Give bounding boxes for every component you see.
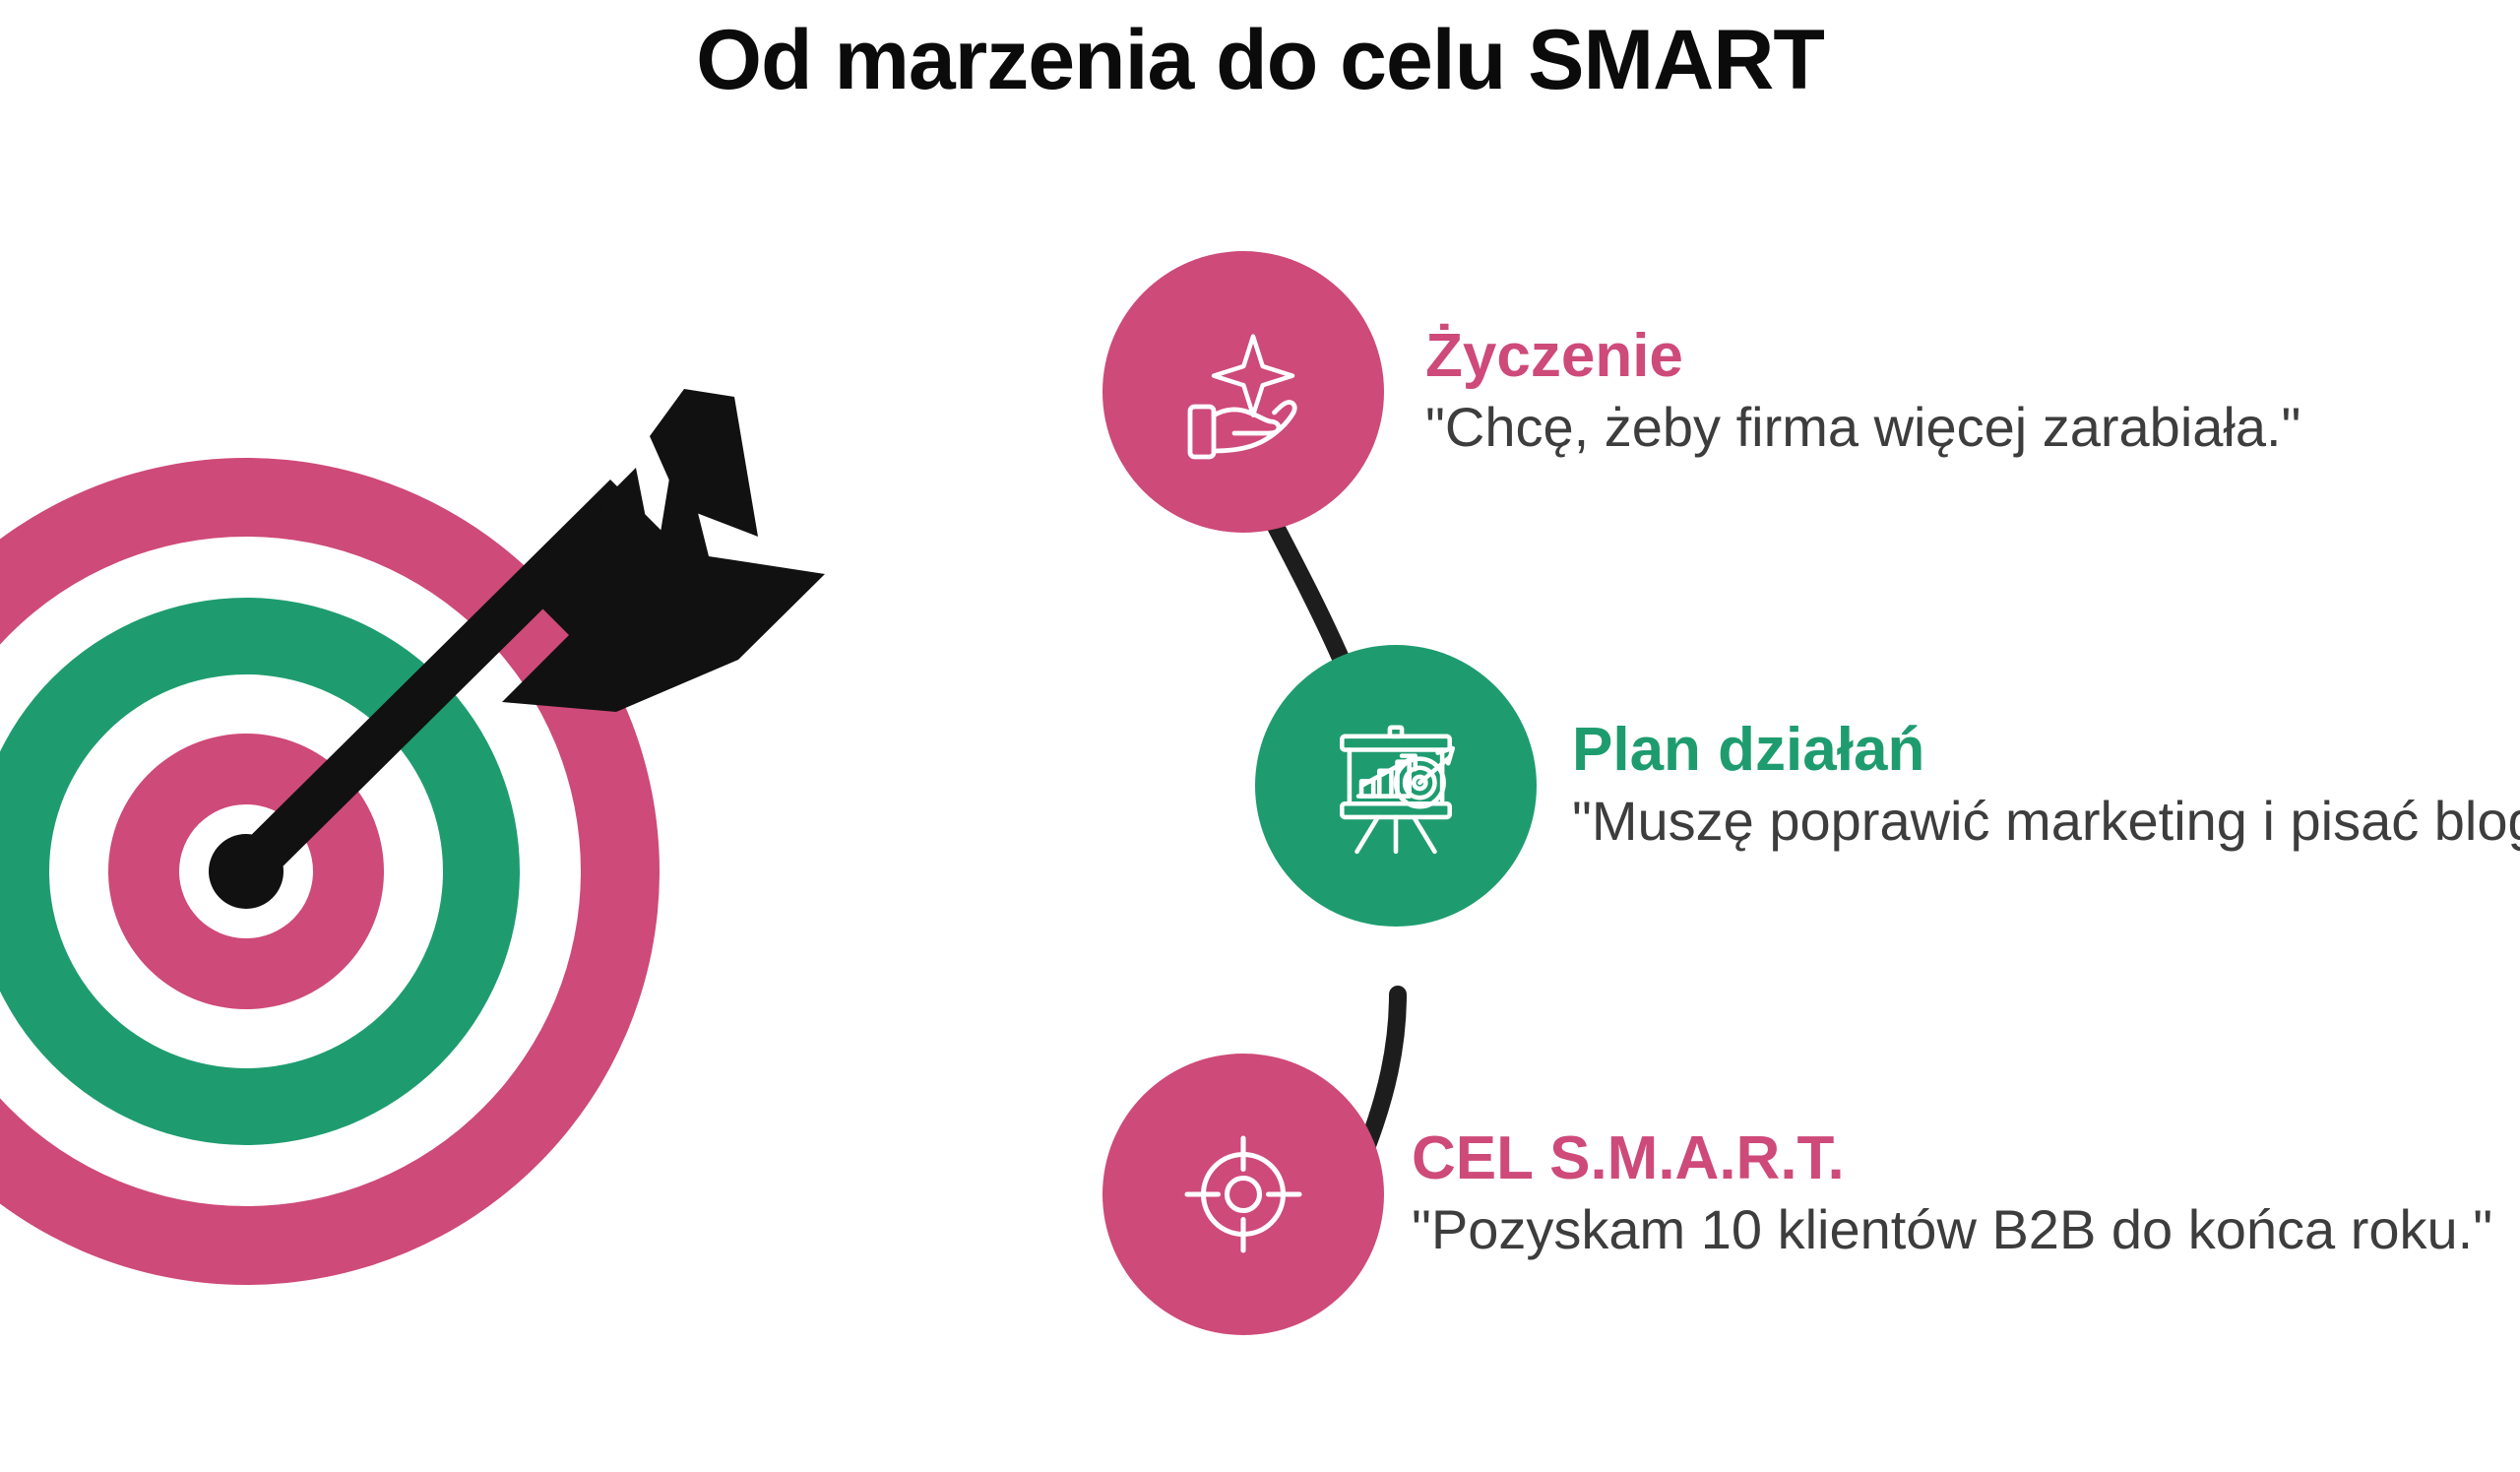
step-badge-plan-dzialan — [1255, 645, 1537, 927]
step-quote-zyczenie: "Chcę, żeby firma więcej zarabiała." — [1425, 396, 2300, 459]
step-heading-cel-smart: CEL S.M.A.R.T. — [1412, 1126, 2492, 1192]
step-badge-zyczenie — [1102, 251, 1384, 533]
flow-step-plan-dzialan[interactable]: Plan działań "Muszę poprawić marketing i… — [1255, 645, 2520, 927]
flow-step-zyczenie[interactable]: Życzenie "Chcę, żeby firma więcej zarabi… — [1102, 251, 2300, 533]
step-heading-zyczenie: Życzenie — [1425, 324, 2300, 390]
step-heading-plan-dzialan: Plan działań — [1572, 718, 2520, 784]
smart-flow: Życzenie "Chcę, żeby firma więcej zarabi… — [1102, 251, 2520, 1472]
flow-step-cel-smart[interactable]: CEL S.M.A.R.T. "Pozyskam 10 klientów B2B… — [1102, 1054, 2492, 1335]
step-quote-cel-smart: "Pozyskam 10 klientów B2B do końca roku.… — [1412, 1198, 2492, 1261]
dartboard-illustration — [0, 212, 984, 1324]
hand-with-sparkle-icon — [1169, 318, 1317, 466]
step-badge-cel-smart — [1102, 1054, 1384, 1335]
step-text-cel-smart: CEL S.M.A.R.T. "Pozyskam 10 klientów B2B… — [1412, 1126, 2492, 1261]
crosshair-target-icon — [1169, 1120, 1317, 1268]
step-quote-plan-dzialan: "Muszę poprawić marketing i pisać bloga.… — [1572, 790, 2520, 853]
step-text-plan-dzialan: Plan działań "Muszę poprawić marketing i… — [1572, 718, 2520, 853]
step-text-zyczenie: Życzenie "Chcę, żeby firma więcej zarabi… — [1425, 324, 2300, 459]
page-title: Od marzenia do celu SMART — [0, 12, 2520, 109]
presentation-chart-target-icon — [1321, 711, 1471, 861]
